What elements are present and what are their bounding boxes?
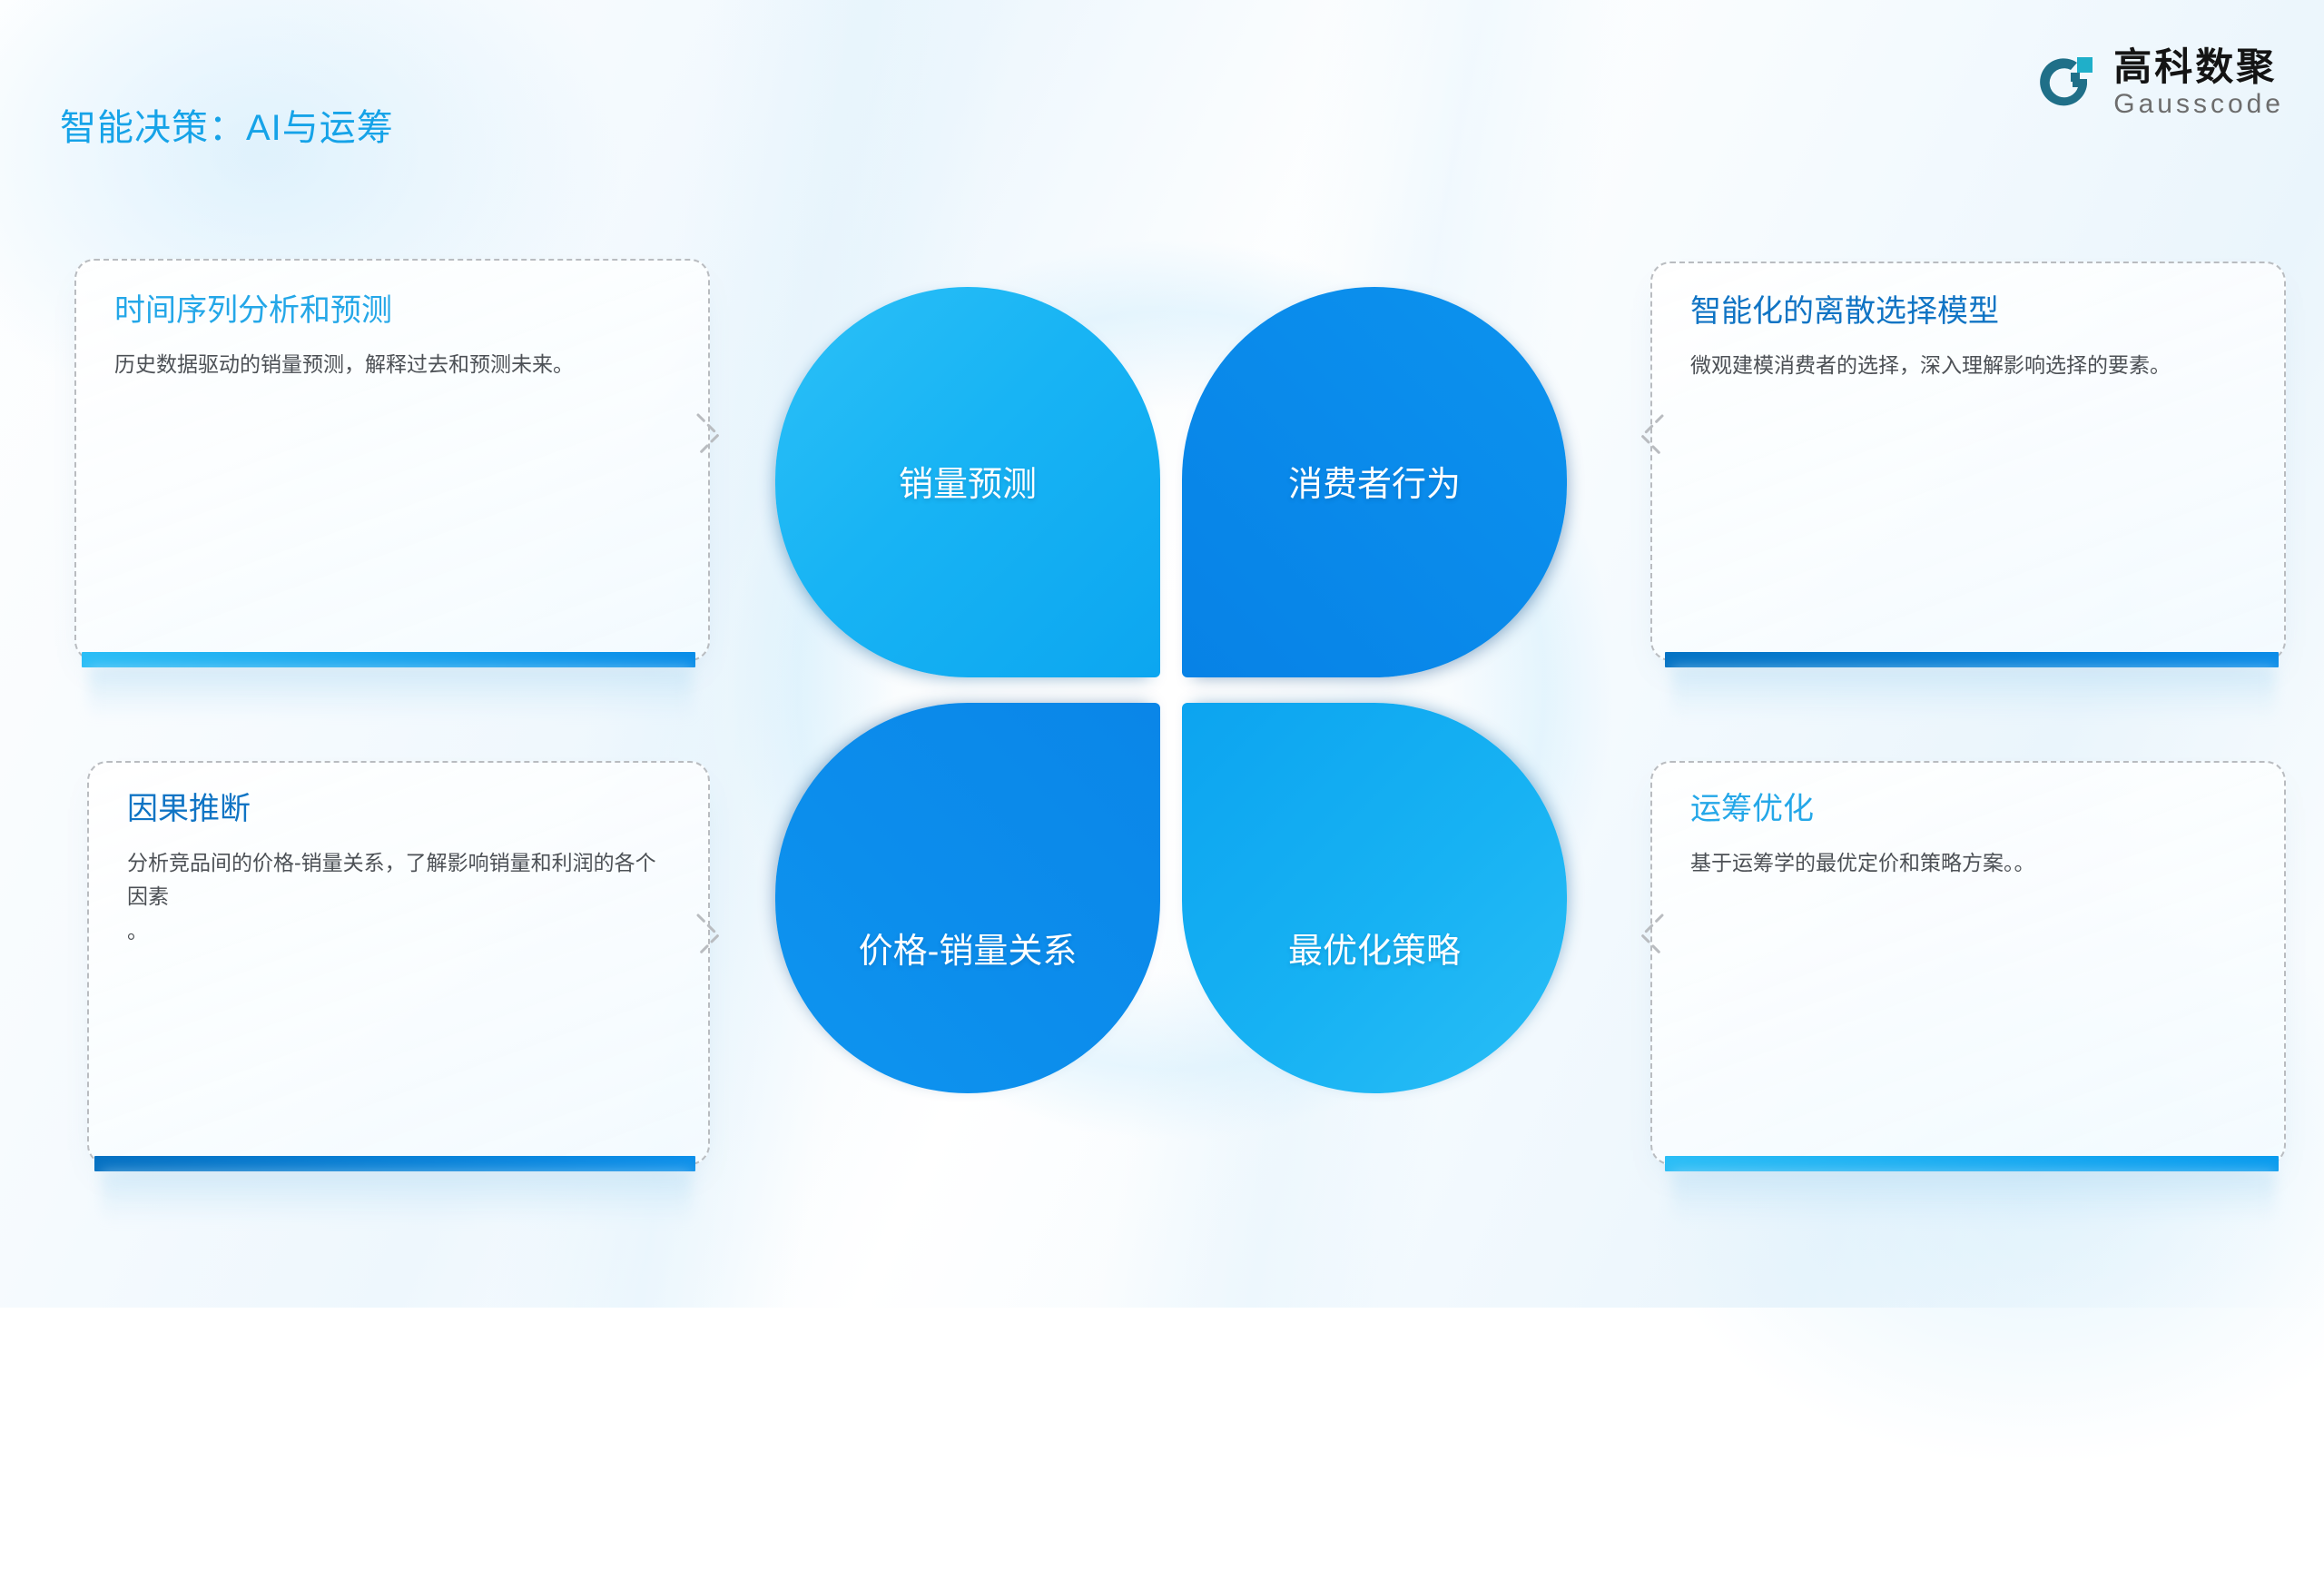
- chevron-left-icon: [1637, 912, 1666, 959]
- card-accent-bar: [1665, 652, 2279, 667]
- chevron-right-icon: [694, 912, 724, 959]
- petal-sales-forecast[interactable]: 销量预测: [775, 287, 1160, 677]
- card-causal-inference[interactable]: 因果推断 分析竞品间的价格-销量关系，了解影响销量和利润的各个因素 。: [87, 761, 710, 1165]
- petal-diagram-glow: [666, 178, 1676, 1202]
- card-body: 微观建模消费者的选择，深入理解影响选择的要素。: [1690, 349, 2248, 382]
- card-accent-bar: [1665, 1156, 2279, 1171]
- gausscode-logo-icon: [2030, 50, 2097, 117]
- card-accent-bar: [82, 652, 695, 667]
- page-title: 智能决策：AI与运筹: [60, 98, 394, 151]
- petal-label: 销量预测: [775, 456, 1160, 506]
- card-discrete-choice-model[interactable]: 智能化的离散选择模型 微观建模消费者的选择，深入理解影响选择的要素。: [1650, 262, 2286, 661]
- petal-label: 消费者行为: [1182, 456, 1567, 506]
- card-time-series-analysis[interactable]: 时间序列分析和预测 历史数据驱动的销量预测，解释过去和预测未来。: [74, 259, 710, 661]
- card-accent-bar: [94, 1156, 695, 1171]
- petal-optimization-strategy[interactable]: 最优化策略: [1182, 703, 1567, 1093]
- chevron-right-icon: [694, 411, 724, 459]
- brand-logo: 高科数聚 Gausscode: [2030, 47, 2284, 121]
- petal-price-sales-relation[interactable]: 价格-销量关系: [775, 703, 1160, 1093]
- petal-diagram: 销量预测 消费者行为 价格-销量关系 最优化策略: [775, 287, 1567, 1093]
- logo-name-en: Gausscode: [2113, 89, 2284, 121]
- card-title: 因果推断: [127, 792, 251, 827]
- chevron-left-icon: [1637, 412, 1666, 459]
- card-title: 智能化的离散选择模型: [1690, 294, 1999, 330]
- petal-consumer-behavior[interactable]: 消费者行为: [1182, 287, 1567, 677]
- petal-label: 最优化策略: [1182, 923, 1567, 973]
- card-body: 历史数据驱动的销量预测，解释过去和预测未来。: [114, 348, 672, 381]
- card-title: 时间序列分析和预测: [114, 293, 392, 329]
- logo-text: 高科数聚 Gausscode: [2113, 47, 2284, 121]
- card-body: 分析竞品间的价格-销量关系，了解影响销量和利润的各个因素 。: [127, 846, 672, 948]
- petal-label: 价格-销量关系: [775, 923, 1160, 973]
- card-title: 运筹优化: [1690, 792, 1814, 827]
- logo-name-cn: 高科数聚: [2113, 47, 2284, 87]
- card-body: 基于运筹学的最优定价和策略方案。。: [1690, 846, 2248, 880]
- card-operations-optimization[interactable]: 运筹优化 基于运筹学的最优定价和策略方案。。: [1650, 761, 2286, 1165]
